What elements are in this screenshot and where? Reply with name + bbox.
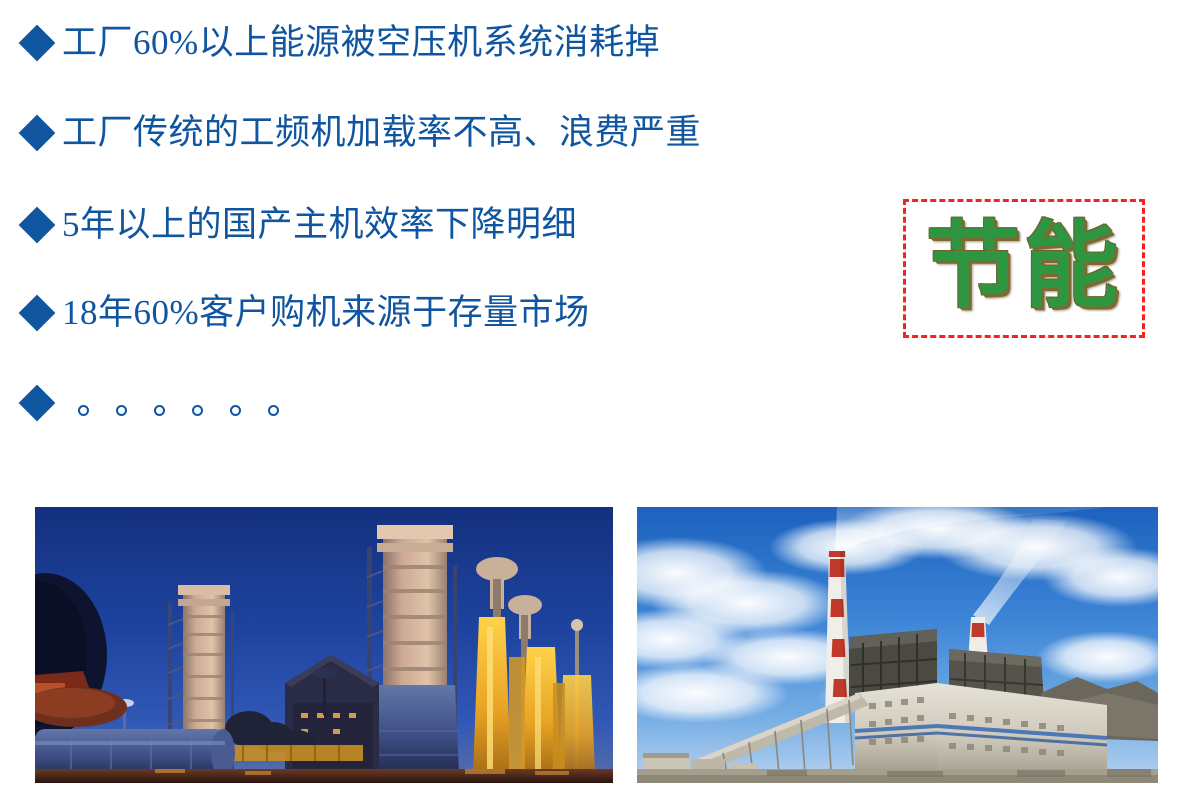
power-plant-illustration [637, 507, 1158, 783]
ellipsis-dots [78, 405, 306, 416]
bullet-item-5 [24, 377, 306, 429]
ellipsis-dot [154, 405, 165, 416]
bullet-item-2-label: 工厂传统的工频机加载率不高、浪费严重 [62, 115, 701, 152]
bullet-item-3: 5年以上的国产主机效率下降明细 [24, 199, 577, 251]
diamond-bullet-icon [19, 385, 56, 422]
ellipsis-dot [78, 405, 89, 416]
photo-coal-power-plant [637, 507, 1158, 783]
bullet-item-1-label: 工厂60%以上能源被空压机系统消耗掉 [62, 25, 660, 62]
diamond-bullet-icon [19, 25, 56, 62]
ellipsis-dot [268, 405, 279, 416]
bullet-item-4: 18年60%客户购机来源于存量市场 [24, 287, 590, 339]
diamond-bullet-icon [19, 207, 56, 244]
slide-canvas: 工厂60%以上能源被空压机系统消耗掉 工厂传统的工频机加载率不高、浪费严重 5年… [0, 0, 1200, 801]
photo-refinery-at-dusk [35, 507, 613, 783]
bullet-item-4-label: 18年60%客户购机来源于存量市场 [62, 295, 590, 332]
diamond-bullet-icon [19, 115, 56, 152]
energy-saving-label: 节能 [926, 220, 1122, 318]
energy-saving-callout-box: 节能 [903, 199, 1145, 338]
bullet-item-1: 工厂60%以上能源被空压机系统消耗掉 [24, 17, 660, 69]
bullet-item-2: 工厂传统的工频机加载率不高、浪费严重 [24, 107, 701, 159]
refinery-illustration [35, 507, 613, 783]
ellipsis-dot [230, 405, 241, 416]
ellipsis-dot [192, 405, 203, 416]
bullet-item-3-label: 5年以上的国产主机效率下降明细 [62, 207, 577, 244]
ellipsis-dot [116, 405, 127, 416]
diamond-bullet-icon [19, 295, 56, 332]
